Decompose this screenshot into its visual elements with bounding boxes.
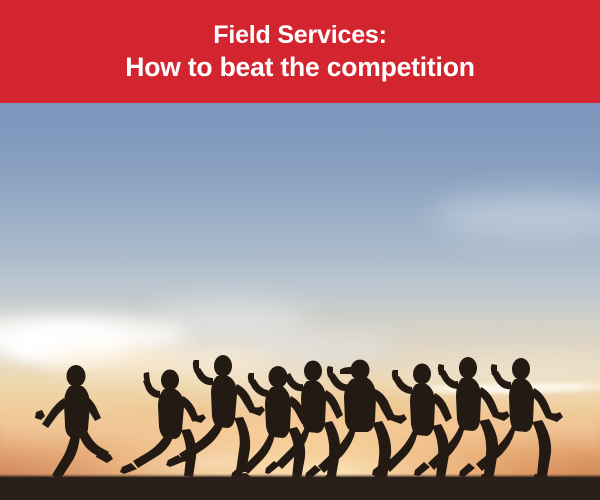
banner-title-line-1: Field Services:	[213, 20, 386, 50]
runner-7-silhouette	[372, 364, 452, 486]
sunset-runners-photo	[0, 103, 600, 500]
runner-2-silhouette	[120, 370, 206, 486]
poster-image: Field Services: How to beat the competit…	[0, 0, 600, 500]
ground-strip	[0, 477, 600, 500]
runner-silhouette-group	[0, 103, 600, 500]
banner-title-line-2: How to beat the competition	[125, 50, 474, 84]
runner-1-silhouette	[35, 365, 113, 488]
title-banner: Field Services: How to beat the competit…	[0, 0, 600, 103]
